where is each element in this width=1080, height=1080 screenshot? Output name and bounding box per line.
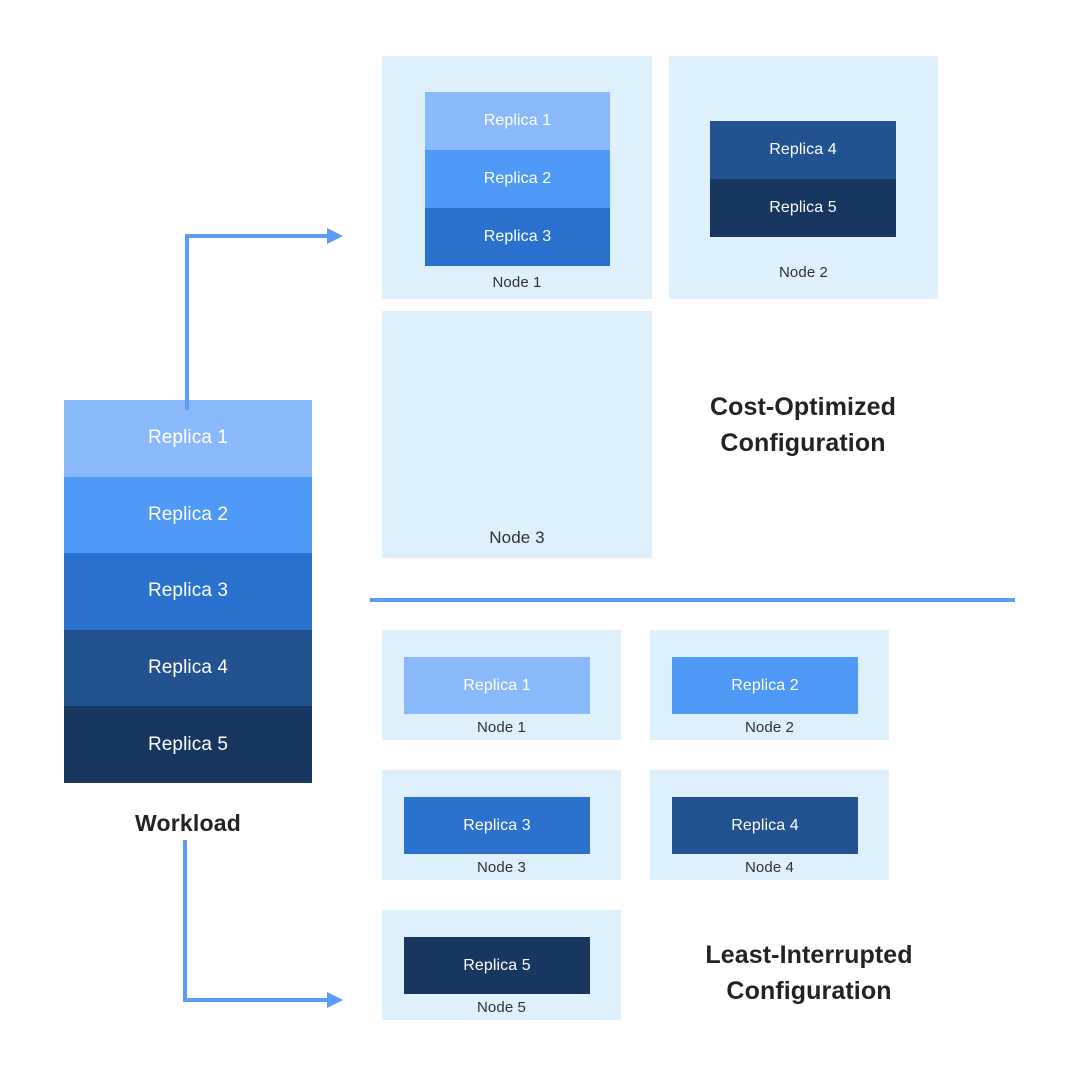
workload-replica-3-label: Replica 3 bbox=[148, 580, 228, 602]
least-node-5-label: Node 5 bbox=[382, 999, 621, 1016]
workload-replica-1-label: Replica 1 bbox=[148, 427, 228, 449]
workload-stack: Replica 1 Replica 2 Replica 3 Replica 4 … bbox=[64, 400, 312, 783]
cost-node-1: Replica 1 Replica 2 Replica 3 Node 1 bbox=[382, 56, 652, 299]
workload-replica-4-label: Replica 4 bbox=[148, 657, 228, 679]
diagram-canvas: Replica 1 Replica 2 Replica 3 Replica 4 … bbox=[0, 0, 1080, 1080]
cost-node-1-replica-2-label: Replica 2 bbox=[484, 170, 552, 188]
least-interrupted-caption-line1: Least-Interrupted bbox=[668, 938, 950, 974]
cost-node-1-replica-3: Replica 3 bbox=[425, 208, 610, 266]
least-node-5-replica-5-label: Replica 5 bbox=[463, 957, 531, 975]
least-node-3-label: Node 3 bbox=[382, 859, 621, 876]
cost-node-1-label: Node 1 bbox=[382, 274, 652, 291]
least-node-4-replica-4-label: Replica 4 bbox=[731, 817, 799, 835]
workload-replica-5-label: Replica 5 bbox=[148, 734, 228, 756]
cost-optimized-caption: Cost-Optimized Configuration bbox=[668, 390, 938, 461]
cost-optimized-caption-line1: Cost-Optimized bbox=[668, 390, 938, 426]
least-node-5-replica-5: Replica 5 bbox=[404, 937, 590, 994]
cost-node-2: Replica 4 Replica 5 Node 2 bbox=[669, 56, 938, 299]
workload-replica-5: Replica 5 bbox=[64, 706, 312, 783]
least-interrupted-caption: Least-Interrupted Configuration bbox=[668, 938, 950, 1009]
least-node-1-replica-1: Replica 1 bbox=[404, 657, 590, 714]
least-node-5: Replica 5 Node 5 bbox=[382, 910, 621, 1020]
cost-node-2-replica-5: Replica 5 bbox=[710, 179, 896, 237]
cost-node-1-replica-3-label: Replica 3 bbox=[484, 228, 552, 246]
cost-node-3-label: Node 3 bbox=[382, 528, 652, 548]
workload-label: Workload bbox=[64, 810, 312, 837]
workload-replica-2: Replica 2 bbox=[64, 477, 312, 554]
least-node-1: Replica 1 Node 1 bbox=[382, 630, 621, 740]
workload-replica-4: Replica 4 bbox=[64, 630, 312, 707]
least-interrupted-caption-line2: Configuration bbox=[668, 974, 950, 1010]
least-node-3-replica-3-label: Replica 3 bbox=[463, 817, 531, 835]
cost-node-2-label: Node 2 bbox=[669, 264, 938, 281]
arrow-to-cost-optimized-icon bbox=[170, 220, 360, 410]
least-node-4-replica-4: Replica 4 bbox=[672, 797, 858, 854]
cost-node-2-replica-5-label: Replica 5 bbox=[769, 199, 837, 217]
cost-node-1-replica-1: Replica 1 bbox=[425, 92, 610, 150]
least-node-2-label: Node 2 bbox=[650, 719, 889, 736]
least-node-4-label: Node 4 bbox=[650, 859, 889, 876]
least-node-2-replica-2-label: Replica 2 bbox=[731, 677, 799, 695]
cost-node-1-replica-2: Replica 2 bbox=[425, 150, 610, 208]
cost-optimized-caption-line2: Configuration bbox=[668, 426, 938, 462]
section-divider bbox=[370, 598, 1015, 602]
workload-replica-2-label: Replica 2 bbox=[148, 504, 228, 526]
least-node-2: Replica 2 Node 2 bbox=[650, 630, 889, 740]
arrow-to-least-interrupted-icon bbox=[170, 840, 360, 1015]
least-node-3-replica-3: Replica 3 bbox=[404, 797, 590, 854]
cost-node-1-replica-1-label: Replica 1 bbox=[484, 112, 552, 130]
least-node-4: Replica 4 Node 4 bbox=[650, 770, 889, 880]
cost-node-2-replica-4-label: Replica 4 bbox=[769, 141, 837, 159]
least-node-2-replica-2: Replica 2 bbox=[672, 657, 858, 714]
cost-node-2-replica-4: Replica 4 bbox=[710, 121, 896, 179]
workload-replica-1: Replica 1 bbox=[64, 400, 312, 477]
least-node-1-replica-1-label: Replica 1 bbox=[463, 677, 531, 695]
cost-node-3: Node 3 bbox=[382, 311, 652, 558]
least-node-1-label: Node 1 bbox=[382, 719, 621, 736]
workload-replica-3: Replica 3 bbox=[64, 553, 312, 630]
least-node-3: Replica 3 Node 3 bbox=[382, 770, 621, 880]
